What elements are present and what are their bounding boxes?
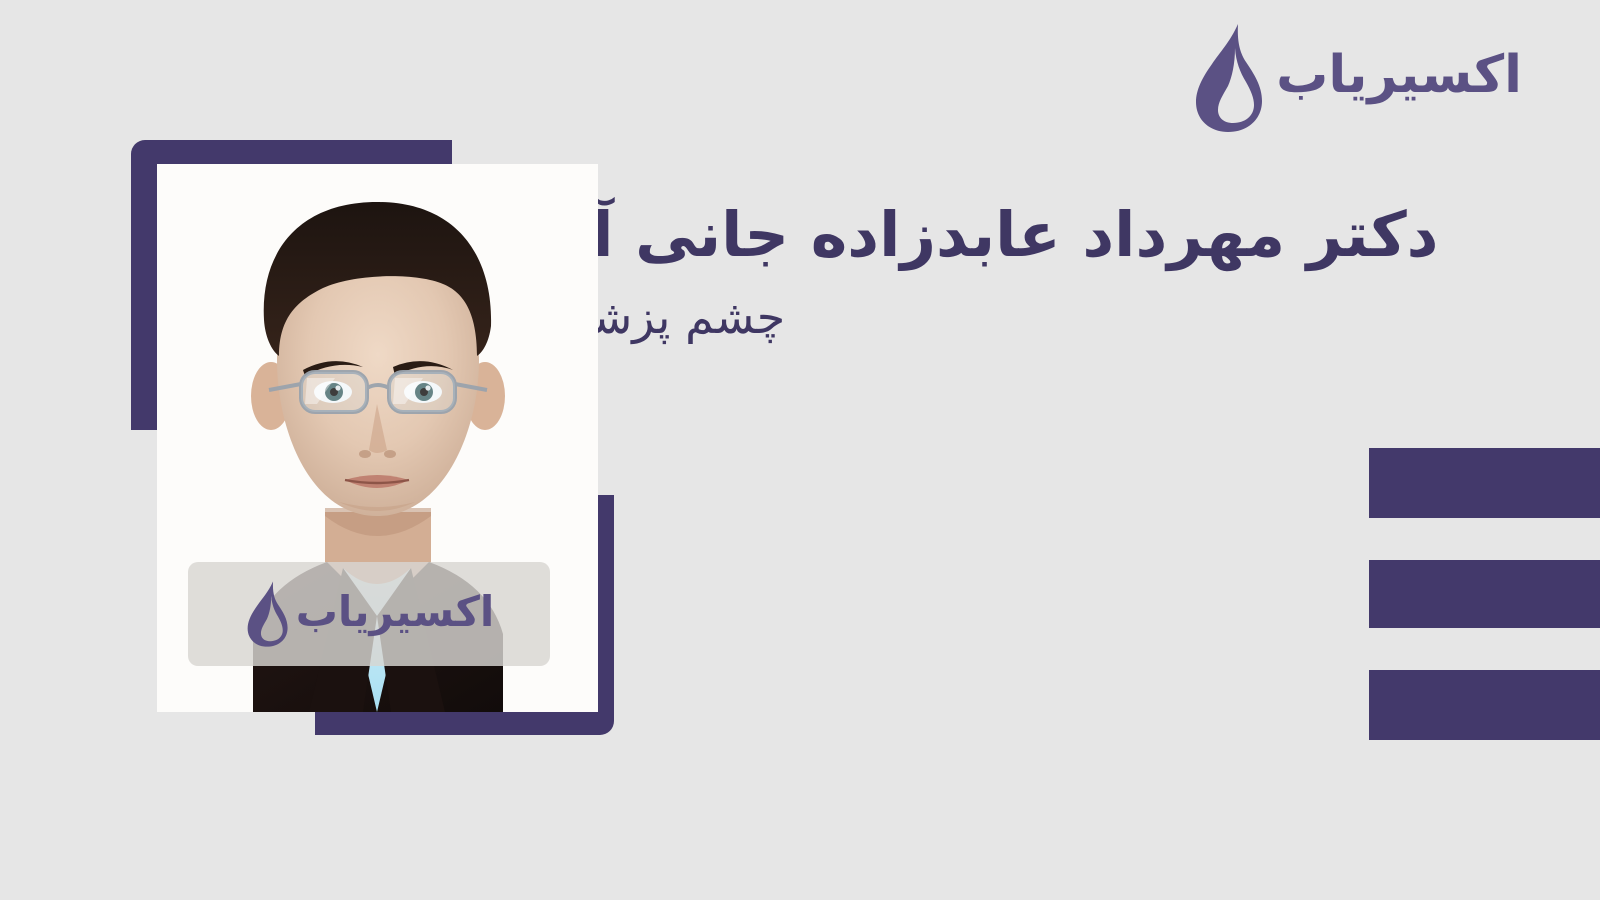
flame-droplet-icon <box>244 580 290 648</box>
profile-banner: اکسیریاب دکتر مهرداد عابدزاده جانی آب چش… <box>0 0 1600 900</box>
flame-droplet-icon <box>1190 22 1266 134</box>
decorative-bars <box>1369 448 1600 740</box>
decorative-bar <box>1369 560 1600 628</box>
photo-watermark: اکسیریاب <box>188 562 550 666</box>
brand-logo[interactable]: اکسیریاب <box>1190 22 1522 134</box>
decorative-bar <box>1369 448 1600 518</box>
brand-name: اکسیریاب <box>1276 49 1522 107</box>
watermark-brand-name: اکسیریاب <box>296 591 495 637</box>
photo-composition: اکسیریاب <box>0 0 700 800</box>
decorative-bar <box>1369 670 1600 740</box>
